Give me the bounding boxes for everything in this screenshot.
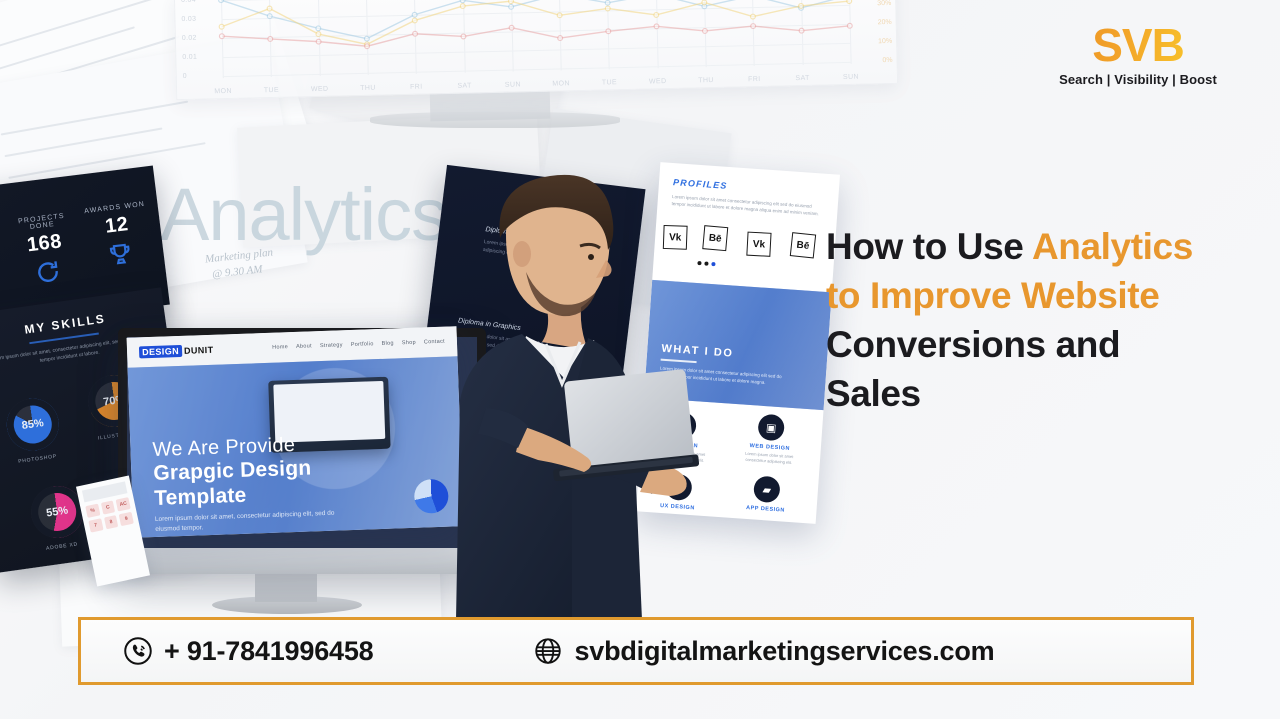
chart-data-point — [461, 34, 466, 39]
chart-data-point — [557, 13, 562, 18]
globe-icon — [533, 636, 563, 666]
stat-projects-done: PROJECTS DONE 168 — [6, 211, 85, 294]
chart-series-line — [221, 0, 850, 42]
contact-phone[interactable]: + 91-7841996458 — [123, 636, 373, 667]
chart-data-point — [799, 4, 804, 9]
analytics-watermark: Analytics — [160, 172, 447, 257]
background-analytics-chart: MONTUEWEDTHUFRISATSUNMONTUEWEDTHUFRISATS… — [174, 0, 898, 100]
stat-awards-won: AWARDS WON 12 — [82, 201, 156, 277]
chart-series-line — [221, 0, 850, 48]
chart-data-point — [219, 24, 224, 29]
refresh-icon — [12, 255, 85, 294]
chart-data-point — [654, 24, 659, 29]
calculator-keys: % C AC 7 8 9 — [85, 497, 134, 533]
chart-data-point — [558, 36, 563, 41]
monitor-icon: ▣ — [757, 414, 785, 442]
chart-data-point — [413, 31, 418, 36]
mobile-icon: ▰ — [753, 475, 781, 503]
website-mockup-card: DESIGNDUNIT Home About Strategy Portfoli… — [127, 326, 464, 537]
mockup-nav-links[interactable]: Home About Strategy Portfolio Blog Shop … — [272, 339, 445, 351]
chart-data-point — [316, 32, 321, 37]
chart-data-point — [799, 28, 804, 33]
chart-data-point — [509, 0, 514, 4]
phone-number: + 91-7841996458 — [164, 636, 373, 667]
mockup-logo: DESIGNDUNIT — [139, 345, 214, 358]
headline-plain-3: Sales — [826, 373, 921, 414]
marketing-banner: MONTUEWEDTHUFRISATSUNMONTUEWEDTHUFRISATS… — [0, 0, 1280, 719]
chart-data-point — [847, 0, 852, 4]
service-web-design: ▣ WEB DESIGN Lorem ipsum dolor sit amet … — [740, 413, 801, 467]
chart-data-point — [606, 29, 611, 34]
chart-data-point — [654, 13, 659, 18]
chart-data-point — [219, 34, 224, 39]
website-url: svbdigitalmarketingservices.com — [574, 636, 994, 667]
chart-data-point — [702, 29, 707, 34]
skill-ring-photoshop: 85% — [3, 395, 62, 454]
chart-data-point — [847, 23, 852, 28]
mockup-hero-line3: Template — [154, 484, 247, 511]
social-icon-vk[interactable]: Vk — [746, 232, 771, 257]
chart-data-point — [412, 18, 417, 23]
headline-plain-2: Conversions and — [826, 324, 1120, 365]
contact-bar: + 91-7841996458 svbdigitalmarketingservi… — [78, 617, 1194, 685]
chart-data-point — [412, 12, 417, 17]
service-app-design: ▰ APP DESIGN — [736, 474, 796, 514]
headline-accent-1: Analytics — [1032, 226, 1193, 267]
chart-data-point — [267, 14, 272, 19]
chart-data-point — [365, 44, 370, 49]
chart-data-point — [460, 4, 465, 9]
headline-accent-2: to Improve Website — [826, 275, 1159, 316]
logo-tagline: Search | Visibility | Boost — [1042, 72, 1234, 87]
contact-website[interactable]: svbdigitalmarketingservices.com — [533, 636, 994, 667]
social-icon-behance[interactable]: Bē — [790, 232, 816, 258]
chart-data-point — [267, 6, 272, 11]
chart-data-point — [268, 36, 273, 41]
chart-data-point — [605, 0, 610, 5]
chart-data-point — [605, 6, 610, 11]
mockup-hero: We Are Provide Grapgic Design Template L… — [128, 356, 464, 537]
trophy-icon — [86, 237, 155, 276]
chart-data-point — [316, 39, 321, 44]
chart-data-point — [702, 0, 707, 5]
chart-data-point — [751, 24, 756, 29]
logo-wordmark: SVB — [1042, 22, 1234, 68]
chart-data-point — [460, 0, 465, 3]
chart-data-point — [219, 0, 224, 3]
chart-data-point — [364, 36, 369, 41]
headline-plain-1: How to Use — [826, 226, 1032, 267]
chart-lines — [175, 0, 897, 99]
chart-data-point — [509, 4, 514, 9]
businessman-with-laptop — [430, 168, 720, 620]
chart-data-point — [750, 14, 755, 19]
chart-data-point — [509, 25, 514, 30]
page-title: How to Use Analytics to Improve Website … — [826, 222, 1262, 418]
chart-data-point — [316, 26, 321, 31]
skill-label-photoshop: PHOTOSHOP — [3, 451, 73, 467]
phone-call-icon — [123, 636, 153, 666]
brand-logo[interactable]: SVB Search | Visibility | Boost — [1042, 22, 1234, 87]
